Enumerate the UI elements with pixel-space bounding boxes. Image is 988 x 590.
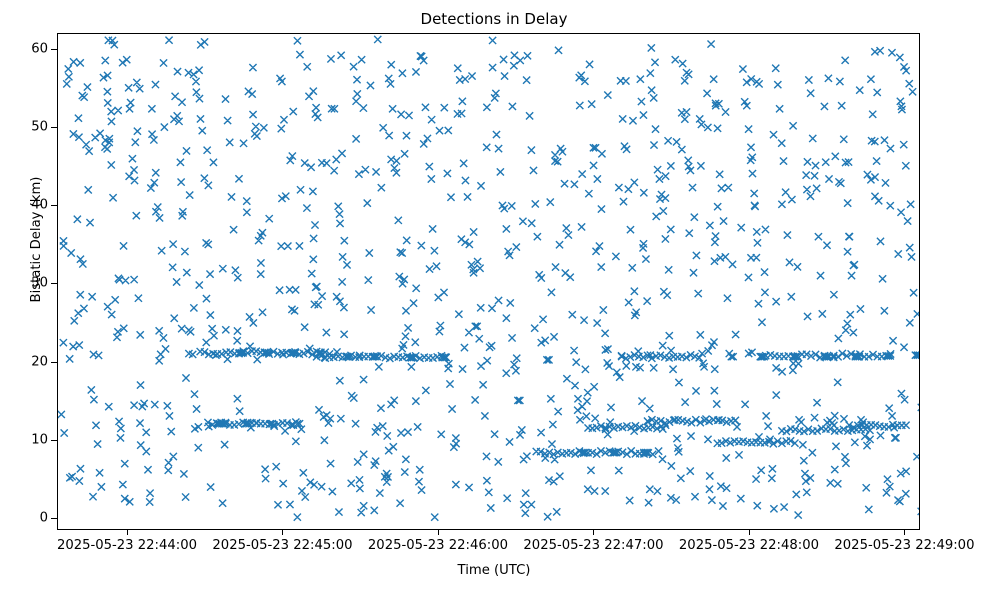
plot-area — [57, 33, 920, 530]
x-tick-marks — [57, 530, 920, 538]
x-tick-label: 2025-05-23 22:48:00 — [679, 538, 819, 553]
x-tick-label: 2025-05-23 22:46:00 — [368, 538, 508, 553]
x-tick-labels: 2025-05-23 22:44:002025-05-23 22:45:0020… — [0, 538, 988, 560]
x-tick-mark — [282, 530, 283, 535]
x-tick-mark — [438, 530, 439, 535]
x-tick-mark — [904, 530, 905, 535]
x-tick-label: 2025-05-23 22:47:00 — [523, 538, 663, 553]
scatter-series — [58, 34, 919, 529]
chart-figure: Detections in Delay Bistatic Delay (km) … — [0, 0, 988, 590]
x-axis-label: Time (UTC) — [0, 563, 988, 578]
x-tick-mark — [127, 530, 128, 535]
x-tick-label: 2025-05-23 22:44:00 — [57, 538, 197, 553]
scatter-markers — [58, 36, 919, 521]
x-tick-mark — [749, 530, 750, 535]
x-tick-label: 2025-05-23 22:45:00 — [212, 538, 352, 553]
chart-title: Detections in Delay — [0, 10, 988, 28]
x-tick-mark — [593, 530, 594, 535]
x-tick-label: 2025-05-23 22:49:00 — [834, 538, 974, 553]
y-tick-marks — [0, 33, 57, 530]
